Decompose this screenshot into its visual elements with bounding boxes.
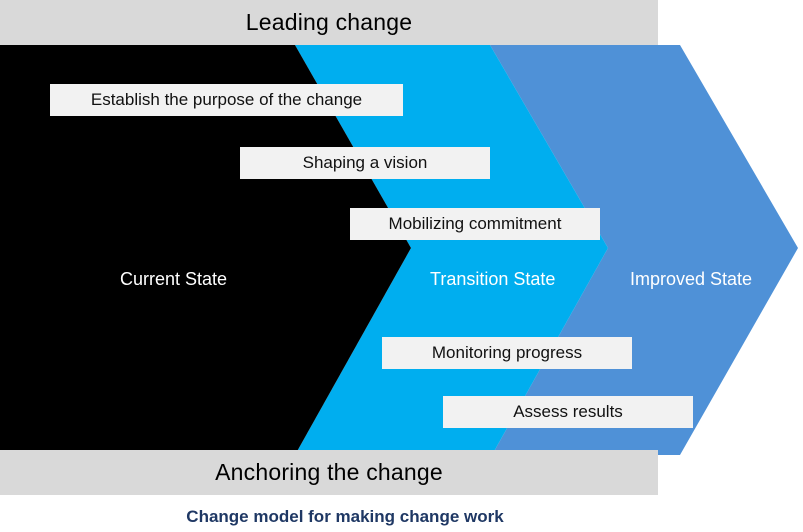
banner-top-label: Leading change	[246, 9, 413, 36]
step-callout-assess-results: Assess results	[443, 396, 693, 428]
state-label-transition: Transition State	[430, 269, 555, 290]
step-callout-shaping-vision: Shaping a vision	[240, 147, 490, 179]
state-label-current: Current State	[120, 269, 227, 290]
diagram-canvas: Leading change Anchoring the change Curr…	[0, 0, 803, 532]
step-1-label: Establish the purpose of the change	[91, 90, 362, 110]
banner-bottom-label: Anchoring the change	[215, 459, 443, 486]
step-callout-monitoring-progress: Monitoring progress	[382, 337, 632, 369]
step-5-label: Assess results	[513, 402, 623, 422]
step-callout-establish-purpose: Establish the purpose of the change	[50, 84, 403, 116]
banner-anchoring-the-change: Anchoring the change	[0, 450, 658, 495]
step-2-label: Shaping a vision	[303, 153, 428, 173]
banner-leading-change: Leading change	[0, 0, 658, 45]
step-callout-mobilizing-commitment: Mobilizing commitment	[350, 208, 600, 240]
step-3-label: Mobilizing commitment	[389, 214, 562, 234]
diagram-caption: Change model for making change work	[0, 507, 690, 527]
step-4-label: Monitoring progress	[432, 343, 582, 363]
state-label-improved: Improved State	[630, 269, 752, 290]
